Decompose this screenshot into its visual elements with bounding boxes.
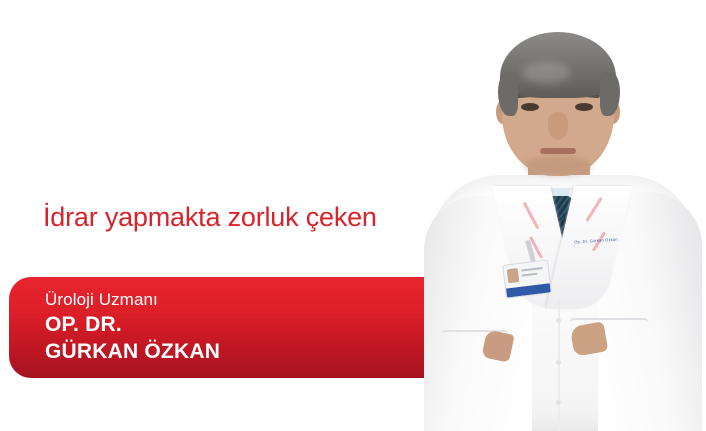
- eye-left: [521, 103, 539, 111]
- doctor-specialty: Üroloji Uzmanı: [45, 288, 453, 311]
- hair-temple-left: [498, 72, 518, 116]
- eye-right: [575, 103, 593, 111]
- coat-button: [556, 400, 561, 405]
- badge-photo: [507, 268, 520, 283]
- badge-text-line: [521, 267, 543, 272]
- badge-text-line: [521, 273, 537, 277]
- coat-button: [556, 360, 561, 365]
- doctor-name-banner: Üroloji Uzmanı OP. DR. GÜRKAN ÖZKAN: [9, 277, 461, 378]
- promo-banner-canvas: İdrar yapmakta zorluk çeken her kişi pro…: [0, 0, 706, 431]
- doctor-name-banner-content: Üroloji Uzmanı OP. DR. GÜRKAN ÖZKAN: [45, 288, 453, 365]
- hand-right: [570, 321, 609, 356]
- forehead-highlight: [522, 62, 570, 84]
- doctor-full-name: GÜRKAN ÖZKAN: [45, 338, 453, 365]
- hand-left: [481, 329, 514, 362]
- id-badge: [502, 259, 552, 298]
- chin-shadow: [524, 156, 592, 176]
- headline-line-1: İdrar yapmakta zorluk çeken: [43, 200, 473, 234]
- mouth: [540, 148, 576, 154]
- doctor-title: OP. DR.: [45, 311, 453, 338]
- nose: [548, 112, 568, 140]
- doctor-portrait: Op. Dr. Gürkan Özkan: [420, 0, 706, 431]
- coat-button: [556, 318, 561, 323]
